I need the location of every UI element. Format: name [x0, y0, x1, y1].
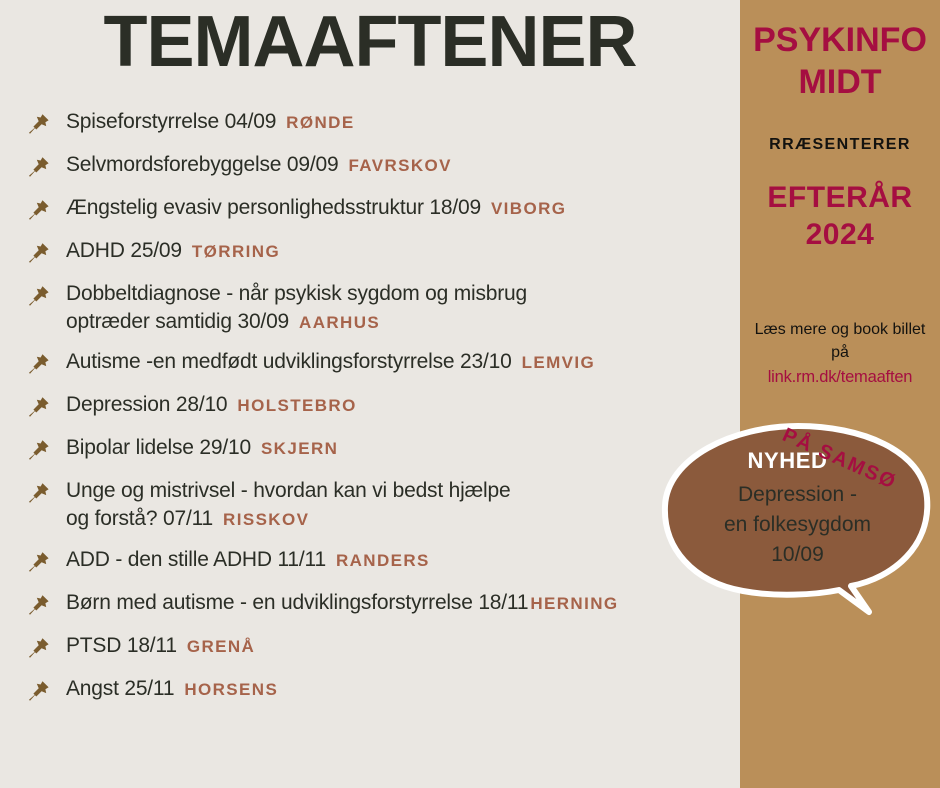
- list-item[interactable]: Angst 25/11HORSENS: [26, 675, 741, 705]
- event-city: HOLSTEBRO: [237, 396, 356, 415]
- booking-text: Læs mere og book billet på: [755, 321, 926, 361]
- event-city: AARHUS: [299, 313, 380, 332]
- pushpin-icon: [26, 632, 66, 661]
- event-text: Børn med autisme - en udviklingsforstyrr…: [66, 589, 741, 617]
- event-city: RANDERS: [336, 551, 430, 570]
- brand-name-line2: MIDT: [740, 64, 940, 101]
- event-title: Angst 25/11: [66, 677, 174, 700]
- pushpin-icon: [26, 108, 66, 137]
- event-title: Selvmordsforebyggelse 09/09: [66, 153, 338, 176]
- poster-root: TEMAAFTENER Spiseforstyrrelse 04/09RØNDE…: [0, 0, 940, 788]
- list-item[interactable]: Selvmordsforebyggelse 09/09FAVRSKOV: [26, 151, 741, 181]
- presents-label: RRÆSENTERER: [740, 136, 940, 154]
- event-text: Unge og mistrivsel - hvordan kan vi beds…: [66, 477, 741, 532]
- event-city: FAVRSKOV: [348, 156, 451, 175]
- event-title: Depression 28/10: [66, 393, 227, 416]
- season-year-label: 2024: [740, 218, 940, 252]
- event-title: ADD - den stille ADHD 11/11: [66, 548, 326, 571]
- event-text: PTSD 18/11GRENÅ: [66, 632, 741, 660]
- pushpin-icon: [26, 194, 66, 223]
- pushpin-icon: [26, 151, 66, 180]
- list-item[interactable]: Børn med autisme - en udviklingsforstyrr…: [26, 589, 741, 619]
- pushpin-icon: [26, 237, 66, 266]
- event-title: Bipolar lidelse 29/10: [66, 436, 251, 459]
- pushpin-icon: [26, 675, 66, 704]
- event-title-line2: optræder samtidig 30/09AARHUS: [66, 308, 741, 336]
- list-item[interactable]: Spiseforstyrrelse 04/09RØNDE: [26, 108, 741, 138]
- event-title: ADHD 25/09: [66, 239, 182, 262]
- pushpin-icon: [26, 391, 66, 420]
- page-title: TEMAAFTENER: [0, 6, 740, 78]
- event-title: Dobbeltdiagnose - når psykisk sygdom og …: [66, 282, 527, 305]
- event-title-line2: og forstå? 07/11RISSKOV: [66, 505, 741, 533]
- pushpin-icon: [26, 589, 66, 618]
- list-item[interactable]: Autisme -en medfødt udviklingsforstyrrel…: [26, 348, 741, 378]
- event-list: Spiseforstyrrelse 04/09RØNDE Selvmordsfo…: [26, 108, 741, 718]
- event-title: Børn med autisme - en udviklingsforstyrr…: [66, 591, 528, 614]
- pushpin-icon: [26, 434, 66, 463]
- list-item[interactable]: Ængstelig evasiv personlighedsstruktur 1…: [26, 194, 741, 224]
- event-text: Angst 25/11HORSENS: [66, 675, 741, 703]
- pushpin-icon: [26, 477, 66, 506]
- event-title: PTSD 18/11: [66, 634, 177, 657]
- pushpin-icon: [26, 546, 66, 575]
- event-text: Autisme -en medfødt udviklingsforstyrrel…: [66, 348, 741, 376]
- event-city: TØRRING: [192, 242, 280, 261]
- event-city: RISSKOV: [223, 510, 309, 529]
- event-text: Selvmordsforebyggelse 09/09FAVRSKOV: [66, 151, 741, 179]
- event-city: SKJERN: [261, 439, 338, 458]
- event-city: HORSENS: [184, 680, 278, 699]
- event-text: ADHD 25/09TØRRING: [66, 237, 741, 265]
- event-text: Ængstelig evasiv personlighedsstruktur 1…: [66, 194, 741, 222]
- event-text: Depression 28/10HOLSTEBRO: [66, 391, 741, 419]
- bubble-line-2: en folkesygdom: [690, 510, 905, 540]
- event-text: Bipolar lidelse 29/10SKJERN: [66, 434, 741, 462]
- left-content-column: TEMAAFTENER Spiseforstyrrelse 04/09RØNDE…: [0, 0, 740, 788]
- event-text: Spiseforstyrrelse 04/09RØNDE: [66, 108, 741, 136]
- booking-info: Læs mere og book billet på link.rm.dk/te…: [746, 318, 934, 390]
- event-title-cont: og forstå? 07/11: [66, 507, 213, 530]
- season-label: EFTERÅR: [740, 182, 940, 214]
- list-item[interactable]: ADD - den stille ADHD 11/11RANDERS: [26, 546, 741, 576]
- event-city: HERNING: [530, 594, 618, 613]
- brand-name-line1: PSYKINFO: [740, 22, 940, 59]
- booking-link[interactable]: link.rm.dk/temaaften: [746, 366, 934, 390]
- event-city: GRENÅ: [187, 637, 255, 656]
- list-item[interactable]: PTSD 18/11GRENÅ: [26, 632, 741, 662]
- event-text: Dobbeltdiagnose - når psykisk sygdom og …: [66, 280, 741, 335]
- pushpin-icon: [26, 348, 66, 377]
- list-item[interactable]: ADHD 25/09TØRRING: [26, 237, 741, 267]
- event-city: LEMVIG: [522, 353, 596, 372]
- event-title: Autisme -en medfødt udviklingsforstyrrel…: [66, 350, 512, 373]
- list-item[interactable]: Dobbeltdiagnose - når psykisk sygdom og …: [26, 280, 741, 335]
- event-city: VIBORG: [491, 199, 566, 218]
- sidebar-panel: PSYKINFO MIDT RRÆSENTERER EFTERÅR 2024 L…: [740, 0, 940, 788]
- event-city: RØNDE: [286, 113, 354, 132]
- bubble-line-3: 10/09: [690, 540, 905, 570]
- event-title-cont: optræder samtidig 30/09: [66, 310, 289, 333]
- event-title: Ængstelig evasiv personlighedsstruktur 1…: [66, 196, 481, 219]
- list-item[interactable]: Depression 28/10HOLSTEBRO: [26, 391, 741, 421]
- pushpin-icon: [26, 280, 66, 309]
- event-title: Unge og mistrivsel - hvordan kan vi beds…: [66, 479, 510, 502]
- event-text: ADD - den stille ADHD 11/11RANDERS: [66, 546, 741, 574]
- event-title: Spiseforstyrrelse 04/09: [66, 110, 276, 133]
- list-item[interactable]: Unge og mistrivsel - hvordan kan vi beds…: [26, 477, 741, 532]
- list-item[interactable]: Bipolar lidelse 29/10SKJERN: [26, 434, 741, 464]
